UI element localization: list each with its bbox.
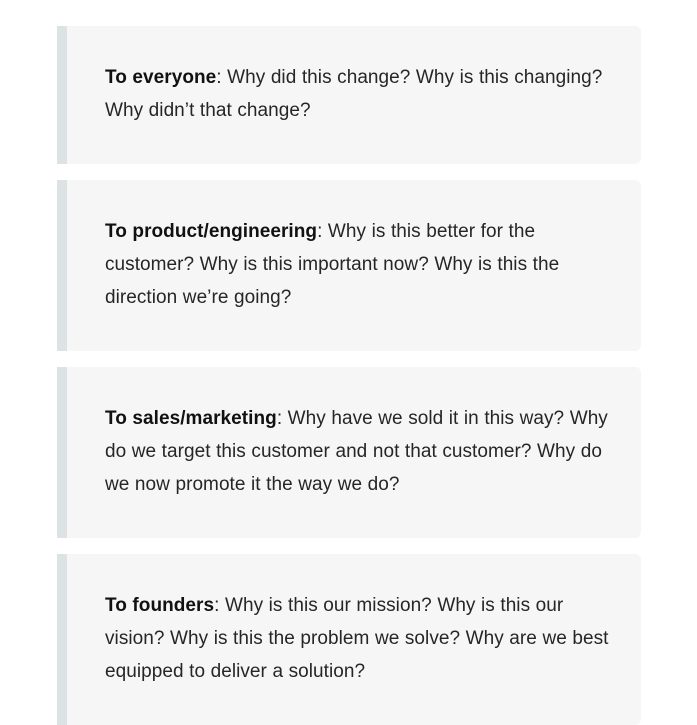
callout-text: To sales/marketing: Why have we sold it … [105,402,615,501]
callout-text: To founders: Why is this our mission? Wh… [105,589,615,688]
callout-separator: : [214,595,225,616]
callout-label: To founders [105,595,214,616]
callout-separator: : [277,408,288,429]
callout-card-sales-marketing: To sales/marketing: Why have we sold it … [57,367,641,538]
callout-label: To product/engineering [105,221,317,242]
callout-card-founders: To founders: Why is this our mission? Wh… [57,554,641,725]
callout-separator: : [216,67,227,88]
callout-text: To product/engineering: Why is this bett… [105,215,615,314]
callout-separator: : [317,221,328,242]
callout-label: To everyone [105,67,216,88]
callout-list: To everyone: Why did this change? Why is… [17,10,681,725]
callout-card-product-engineering: To product/engineering: Why is this bett… [57,180,641,351]
callout-card-everyone: To everyone: Why did this change? Why is… [57,26,641,164]
callout-text: To everyone: Why did this change? Why is… [105,61,615,127]
callout-label: To sales/marketing [105,408,277,429]
